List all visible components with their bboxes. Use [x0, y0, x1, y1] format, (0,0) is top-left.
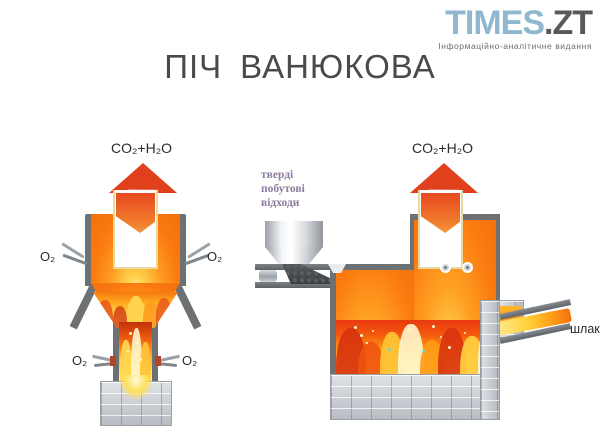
- diagram-canvas: TIMES.ZT Інформаційно-аналітичне видання…: [0, 0, 600, 445]
- right-furnace-port-1: [440, 262, 451, 273]
- slag-label: шлак: [570, 322, 600, 336]
- left-oxygen-label-lower-left: O₂: [72, 353, 87, 368]
- page-title-word-2: ВАНЮКОВА: [240, 48, 436, 85]
- feeder-roller: [259, 270, 277, 282]
- logo-wordmark: TIMES.ZT: [438, 6, 592, 40]
- page-title: ПІЧВАНЮКОВА: [0, 48, 600, 86]
- left-oxygen-label-upper-left: O₂: [40, 249, 55, 264]
- right-exhaust-label: CO₂+H₂O: [412, 140, 473, 156]
- site-logo: TIMES.ZT Інформаційно-аналітичне видання: [438, 6, 592, 51]
- waste-hopper-body: [265, 221, 323, 247]
- waste-feed-label-line-1: тверді: [261, 168, 293, 182]
- right-furnace-brick-base: [330, 374, 500, 420]
- right-furnace-brick-column: [480, 300, 500, 420]
- logo-text-times: TIMES: [445, 4, 544, 42]
- right-furnace-port-2: [462, 262, 473, 273]
- logo-text-zt: .ZT: [544, 4, 592, 42]
- waste-feed-label-line-2: побутові: [261, 182, 305, 196]
- left-exhaust-label: CO₂+H₂O: [111, 140, 172, 156]
- waste-feed-label-line-3: відходи: [261, 196, 299, 210]
- page-title-word-1: ПІЧ: [164, 48, 222, 85]
- left-oxygen-label-lower-right: O₂: [182, 353, 197, 368]
- left-oxygen-label-upper-right: O₂: [207, 249, 222, 264]
- left-furnace-hearth-glow: [120, 375, 152, 399]
